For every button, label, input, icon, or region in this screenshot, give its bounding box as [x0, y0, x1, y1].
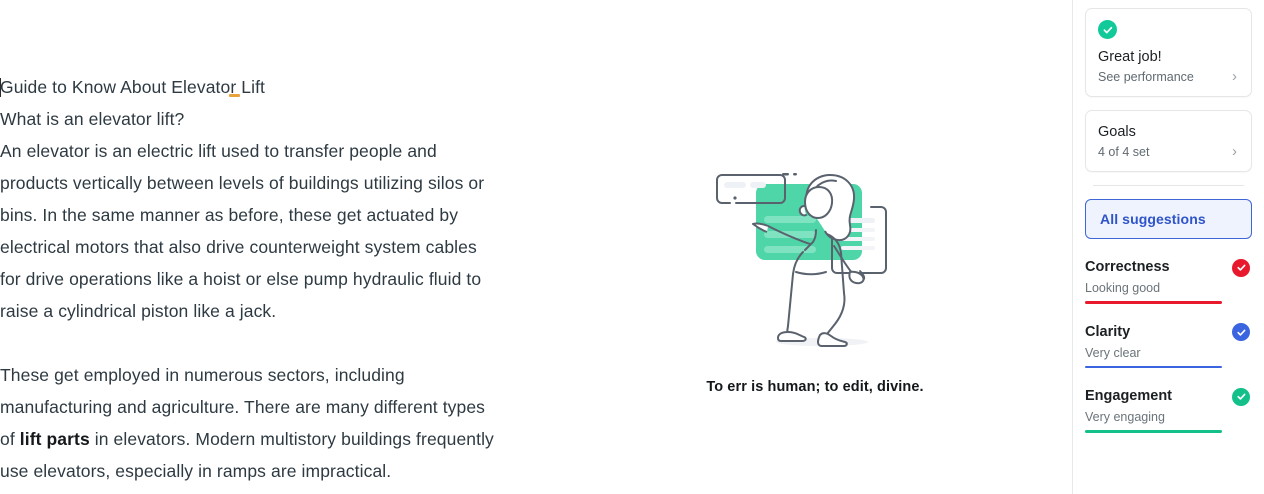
doc-p2-line-1[interactable]: These get employed in numerous sectors, … [0, 359, 530, 391]
document-body[interactable]: Guide to Know About Elevator Lift What i… [0, 71, 530, 487]
score-item-engagement[interactable]: Engagement Very engaging [1085, 387, 1252, 433]
chevron-right-icon[interactable]: › [1232, 145, 1239, 159]
check-circle-icon [1232, 323, 1250, 341]
check-circle-icon [1232, 388, 1250, 406]
doc-line-7[interactable]: for drive operations like a hoist or els… [0, 263, 530, 295]
performance-card-row[interactable]: See performance › [1098, 68, 1239, 86]
doc-line-text: Guide to Know About Elevator Lift [0, 77, 265, 97]
illustration-block: To err is human; to edit, divine. [660, 160, 970, 395]
woman-pointing-at-cards-icon [700, 160, 930, 365]
score-item-clarity[interactable]: Clarity Very clear [1085, 323, 1252, 369]
goals-card-title: Goals [1098, 122, 1239, 142]
doc-line-5[interactable]: bins. In the same manner as before, thes… [0, 199, 530, 231]
performance-card[interactable]: Great job! See performance › [1085, 8, 1252, 97]
chevron-right-icon[interactable]: › [1232, 70, 1239, 84]
doc-line-4[interactable]: products vertically between levels of bu… [0, 167, 530, 199]
p2-line3-pre: of [0, 429, 20, 449]
document-editor-pane[interactable]: Guide to Know About Elevator Lift What i… [0, 0, 1072, 494]
p2-line3-post: in elevators. Modern multistory building… [90, 429, 494, 449]
score-head-clarity: Clarity [1085, 323, 1252, 342]
sidebar-divider [1093, 185, 1244, 186]
score-head-correctness: Correctness [1085, 258, 1252, 277]
score-bar-correctness [1085, 301, 1222, 304]
score-name-engagement: Engagement [1085, 387, 1172, 406]
all-suggestions-button[interactable]: All suggestions [1085, 199, 1252, 239]
performance-card-subtitle: See performance [1098, 68, 1194, 86]
score-name-correctness: Correctness [1085, 258, 1170, 277]
score-bar-fill [1085, 430, 1222, 433]
goals-card-subtitle: 4 of 4 set [1098, 143, 1149, 161]
doc-line-2[interactable]: What is an elevator lift? [0, 103, 530, 135]
paragraph-spacer [0, 327, 530, 359]
score-status-correctness: Looking good [1085, 279, 1252, 297]
doc-p2-line-4[interactable]: use elevators, especially in ramps are i… [0, 455, 530, 487]
grammar-suggestion-underline[interactable] [229, 94, 240, 97]
goals-card[interactable]: Goals 4 of 4 set › [1085, 110, 1252, 172]
illustration-caption: To err is human; to edit, divine. [660, 379, 970, 395]
score-status-clarity: Very clear [1085, 344, 1252, 362]
doc-line-8[interactable]: raise a cylindrical piston like a jack. [0, 295, 530, 327]
document-title-line[interactable]: Guide to Know About Elevator Lift [0, 71, 530, 103]
score-head-engagement: Engagement [1085, 387, 1252, 406]
grammarly-editor-app: Guide to Know About Elevator Lift What i… [0, 0, 1264, 494]
score-bar-clarity [1085, 366, 1222, 369]
doc-line-6[interactable]: electrical motors that also drive counte… [0, 231, 530, 263]
score-bar-fill [1085, 301, 1222, 304]
doc-p2-line-2[interactable]: manufacturing and agriculture. There are… [0, 391, 530, 423]
doc-line-3[interactable]: An elevator is an electric lift used to … [0, 135, 530, 167]
performance-card-title: Great job! [1098, 47, 1239, 67]
bold-phrase-lift-parts: lift parts [20, 429, 90, 449]
score-bar-engagement [1085, 430, 1222, 433]
assistant-sidebar: Great job! See performance › Goals 4 of … [1072, 0, 1264, 494]
score-status-engagement: Very engaging [1085, 408, 1252, 426]
score-name-clarity: Clarity [1085, 323, 1130, 342]
check-circle-icon [1098, 20, 1117, 39]
score-item-correctness[interactable]: Correctness Looking good [1085, 258, 1252, 304]
score-bar-fill [1085, 366, 1222, 369]
doc-p2-line-3[interactable]: of lift parts in elevators. Modern multi… [0, 423, 530, 455]
check-circle-icon [1232, 259, 1250, 277]
goals-card-row[interactable]: 4 of 4 set › [1098, 143, 1239, 161]
